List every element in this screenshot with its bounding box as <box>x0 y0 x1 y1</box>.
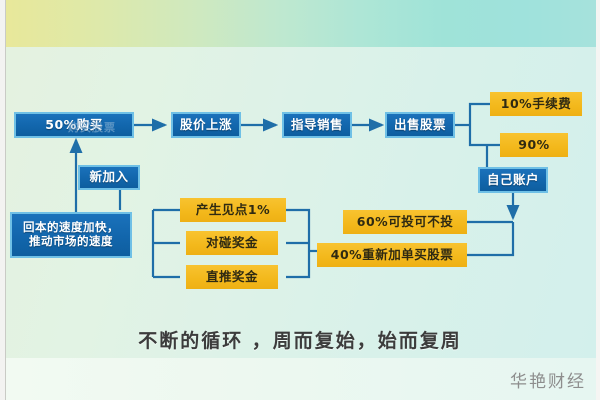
node-sell-stock[interactable]: 出售股票 <box>385 112 455 138</box>
node-point-1-label: 产生见点1% <box>196 203 270 218</box>
node-sell-stock-label: 出售股票 <box>394 118 446 133</box>
node-reinvest-40-label: 40%重新加单买股票 <box>331 248 453 263</box>
node-point-1[interactable]: 产生见点1% <box>180 198 286 222</box>
node-fee-label: 10%手续费 <box>501 97 571 112</box>
node-optional-60[interactable]: 60%可投可不投 <box>343 210 467 234</box>
node-new-join-label: 新加入 <box>89 170 128 185</box>
node-price-up-label: 股价上涨 <box>180 118 232 133</box>
node-buy-label: 50%购买 <box>45 118 102 133</box>
node-fee[interactable]: 10%手续费 <box>490 92 582 116</box>
node-payback-speed[interactable]: 回本的速度加快， 推动市场的速度 <box>10 212 132 258</box>
node-guide-sell[interactable]: 指导销售 <box>282 112 352 138</box>
node-ninety-label: 90% <box>518 138 549 153</box>
node-buy[interactable]: 50%购买 <box>14 112 134 138</box>
watermark: 华艳财经 <box>510 367 586 392</box>
diagram-caption: 不断的循环 ，周而复始，始而复周 <box>0 326 600 353</box>
node-match-bonus[interactable]: 对碰奖金 <box>186 231 278 255</box>
node-match-bonus-label: 对碰奖金 <box>206 236 258 251</box>
node-own-account-label: 自己账户 <box>487 173 539 188</box>
node-price-up[interactable]: 股价上涨 <box>171 112 241 138</box>
node-optional-60-label: 60%可投可不投 <box>357 215 453 230</box>
node-ninety[interactable]: 90% <box>500 133 568 157</box>
diagram-canvas: 50%购买 购买股票 股价上涨 指导销售 出售股票 10%手续费 90% 自己账… <box>0 0 600 400</box>
node-payback-speed-label: 回本的速度加快， 推动市场的速度 <box>23 221 119 248</box>
node-guide-sell-label: 指导销售 <box>291 118 343 133</box>
node-direct-bonus[interactable]: 直推奖金 <box>186 265 278 289</box>
node-new-join[interactable]: 新加入 <box>78 165 140 190</box>
node-own-account[interactable]: 自己账户 <box>478 167 548 193</box>
node-reinvest-40[interactable]: 40%重新加单买股票 <box>317 243 467 267</box>
node-direct-bonus-label: 直推奖金 <box>206 270 258 285</box>
